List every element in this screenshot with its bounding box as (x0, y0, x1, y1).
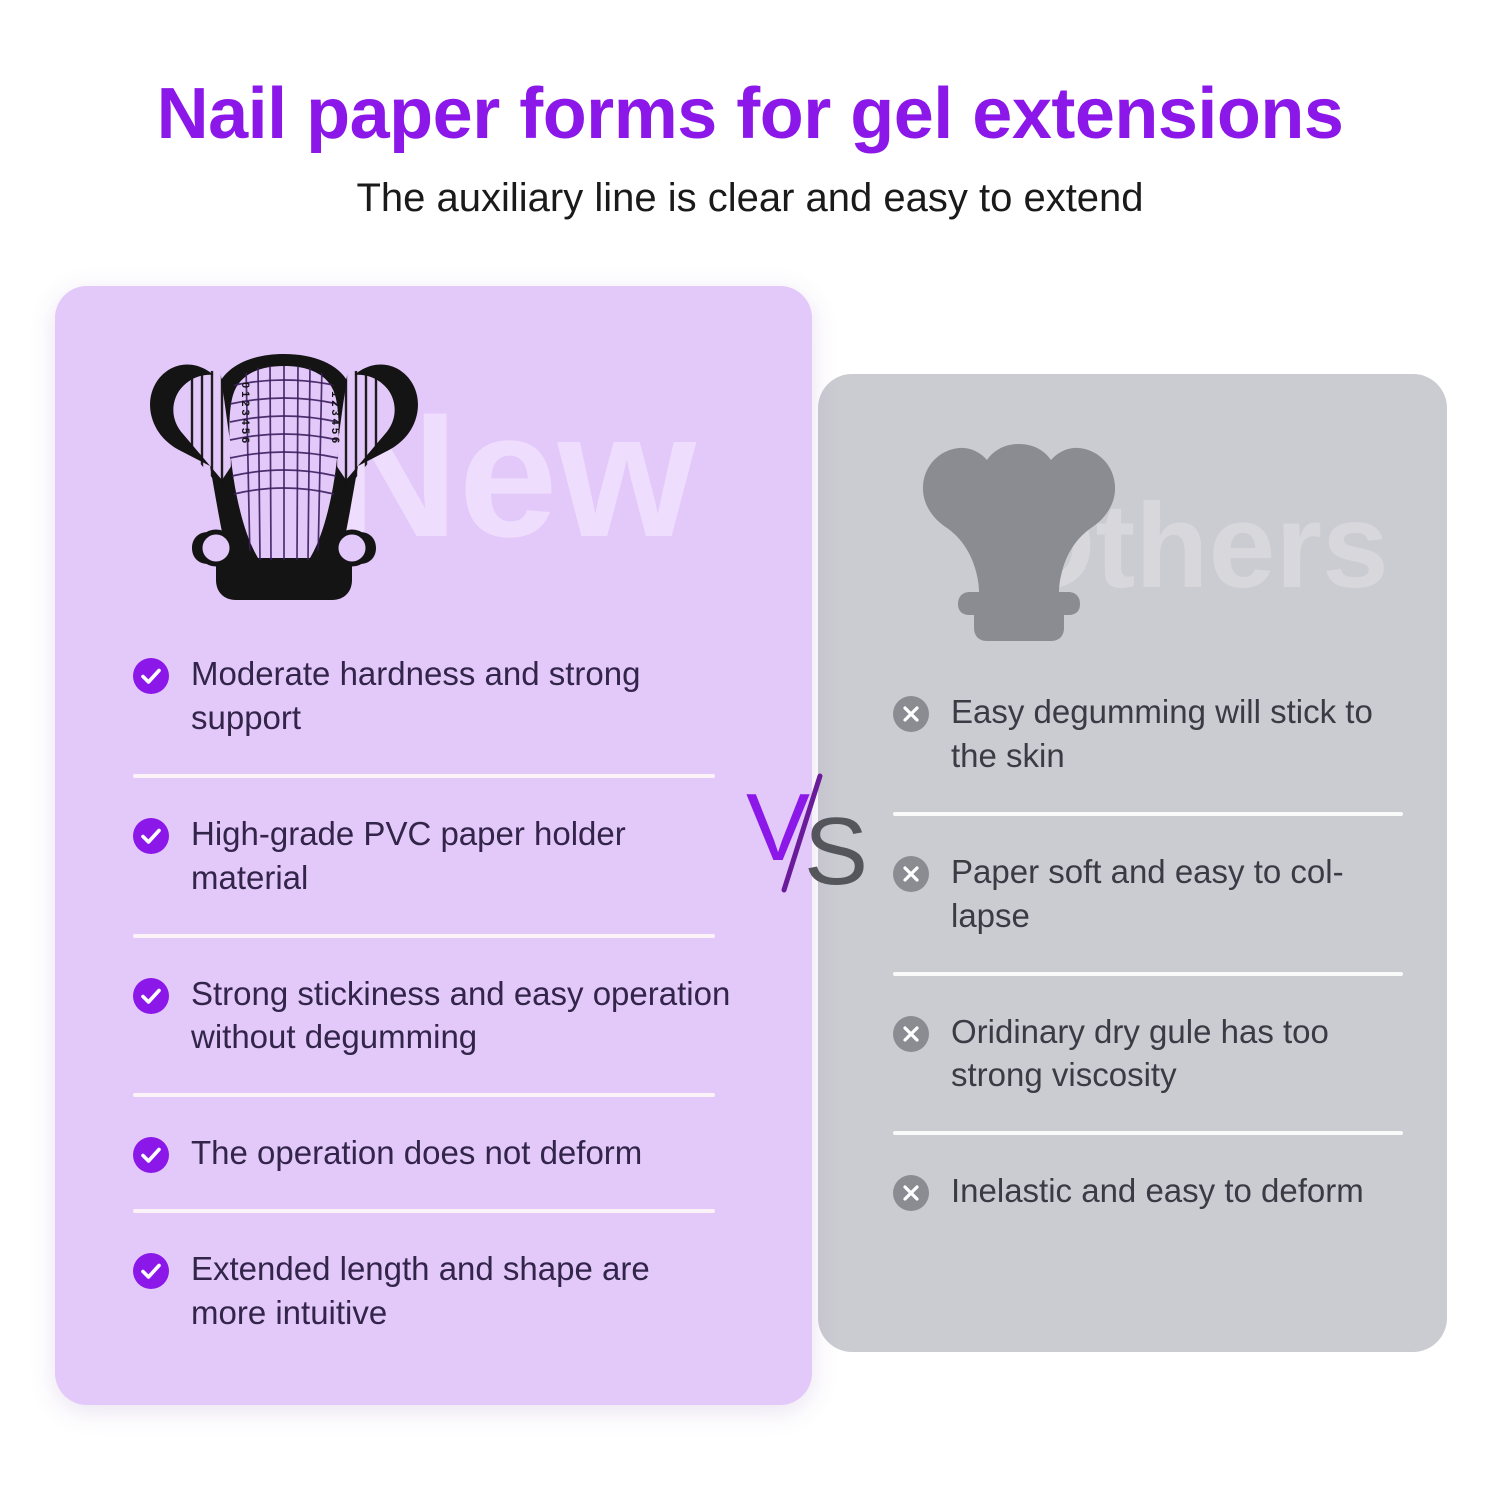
list-item: Paper soft and easy to col-lapse (893, 850, 1403, 938)
nail-form-others-illustration (908, 436, 1130, 648)
vs-divider: V S (742, 768, 882, 898)
check-icon (133, 658, 169, 694)
check-icon (133, 978, 169, 1014)
list-item: The operation does not deform (133, 1131, 733, 1175)
feature-list-others: Easy degumming will stick to the skin Pa… (893, 690, 1403, 1213)
list-item: High-grade PVC paper holder material (133, 812, 733, 900)
svg-text:0 1 2 3 4 5 6: 0 1 2 3 4 5 6 (239, 382, 251, 443)
list-item: Extended length and shape are more intui… (133, 1247, 733, 1335)
list-item: Easy degumming will stick to the skin (893, 690, 1403, 778)
page-title: Nail paper forms for gel extensions (0, 0, 1500, 150)
nail-form-new-illustration: 0 1 2 3 4 5 6 0 1 2 3 4 5 6 (146, 342, 422, 610)
list-item-label: Inelastic and easy to deform (951, 1169, 1364, 1213)
header: Nail paper forms for gel extensions The … (0, 0, 1500, 218)
list-item-label: Moderate hardness and strong support (191, 652, 733, 740)
list-item-label: Oridinary dry gule has too strong viscos… (951, 1010, 1403, 1098)
comparison-infographic: Nail paper forms for gel extensions The … (0, 0, 1500, 1500)
cross-icon (893, 696, 929, 732)
list-item-label: Easy degumming will stick to the skin (951, 690, 1403, 778)
feature-list-new: Moderate hardness and strong support Hig… (133, 652, 733, 1335)
cross-icon (893, 856, 929, 892)
check-icon (133, 1253, 169, 1289)
list-item-label: High-grade PVC paper holder material (191, 812, 733, 900)
vs-letter-s: S (804, 798, 868, 898)
page-subtitle: The auxiliary line is clear and easy to … (0, 150, 1500, 218)
list-item: Inelastic and easy to deform (893, 1169, 1403, 1213)
cross-icon (893, 1175, 929, 1211)
vs-letter-v: V (746, 774, 810, 881)
list-item: Moderate hardness and strong support (133, 652, 733, 740)
list-item: Oridinary dry gule has too strong viscos… (893, 1010, 1403, 1098)
cross-icon (893, 1016, 929, 1052)
list-item-label: The operation does not deform (191, 1131, 642, 1175)
list-item: Strong stickiness and easy operation wit… (133, 972, 733, 1060)
check-icon (133, 818, 169, 854)
list-item-label: Extended length and shape are more intui… (191, 1247, 733, 1335)
svg-text:0 1 2 3 4 5 6: 0 1 2 3 4 5 6 (329, 382, 341, 443)
check-icon (133, 1137, 169, 1173)
list-item-label: Paper soft and easy to col-lapse (951, 850, 1403, 938)
list-item-label: Strong stickiness and easy operation wit… (191, 972, 733, 1060)
